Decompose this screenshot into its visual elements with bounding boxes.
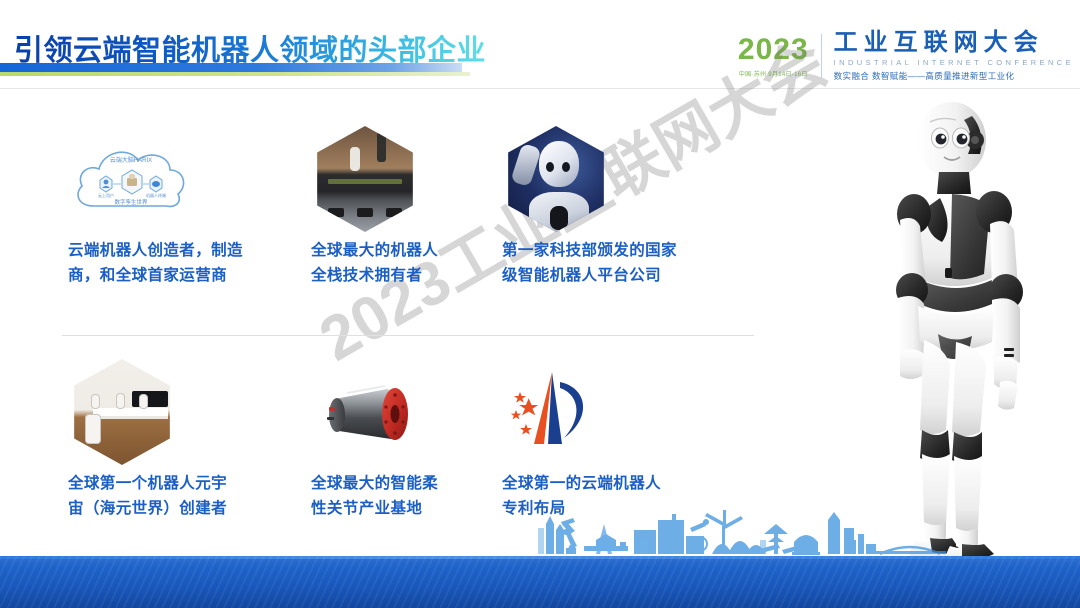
content-grid: 云端大脑HARIX 云上用户 机器人终端 <box>62 120 762 568</box>
humanoid-robot <box>91 394 100 409</box>
cell-caption: 全球最大的智能柔 性关节产业基地 <box>305 471 520 521</box>
content-row: 云端大脑HARIX 云上用户 机器人终端 <box>62 120 762 335</box>
cell-caption: 全球第一个机器人元宇 宙（海元世界）创建者 <box>62 471 277 521</box>
console-module <box>357 208 373 217</box>
cell-media: 云端大脑HARIX 云上用户 机器人终端 <box>62 120 277 238</box>
conference-logo: 2023 中国·苏州 9月14日-16日 工业互联网大会 INDUSTRIAL … <box>738 28 1074 84</box>
content-cell: 云端大脑HARIX 云上用户 机器人终端 <box>62 120 277 288</box>
logo-slogan: 数实融合 数智赋能——高质量推进新型工业化 <box>834 70 1074 82</box>
caption-line: 全球最大的智能柔 <box>311 471 520 496</box>
cell-caption: 云端机器人创造者，制造 商，和全球首家运营商 <box>62 238 277 288</box>
display-screen <box>132 391 168 407</box>
cell-media <box>496 353 711 471</box>
patent-emblem-logo <box>504 366 612 458</box>
svg-text:机器人终端: 机器人终端 <box>146 192 166 198</box>
caption-line: 性关节产业基地 <box>311 496 520 521</box>
robot-head <box>539 141 579 187</box>
cell-media <box>62 353 277 471</box>
humanoid-robot <box>139 394 148 409</box>
bottom-decoration-bar <box>0 556 1080 608</box>
caption-line: 第一家科技部颁发的国家 <box>502 238 711 263</box>
robot-chest-panel <box>550 206 568 230</box>
caption-line: 宙（海元世界）创建者 <box>68 496 277 521</box>
exhibit-table <box>93 408 168 416</box>
cell-caption: 全球最大的机器人 全栈技术拥有者 <box>305 238 520 288</box>
caption-line: 全球最大的机器人 <box>311 238 520 263</box>
cell-caption: 第一家科技部颁发的国家 级智能机器人平台公司 <box>496 238 711 288</box>
cell-media <box>305 353 520 471</box>
robot-arm <box>511 143 542 187</box>
title-accent-line <box>0 72 470 76</box>
content-cell: 全球第一的云端机器人 专利布局 <box>496 353 711 521</box>
cell-caption: 全球第一的云端机器人 专利布局 <box>496 471 711 521</box>
slide-header: 引领云端智能机器人领域的头部企业 2023 中国·苏州 9月14日-16日 工业… <box>0 0 1080 90</box>
logo-name-cn: 工业互联网大会 <box>834 30 1074 55</box>
robot-expo-hall-photo <box>70 359 174 465</box>
humanoid-service-robot-image <box>844 102 1064 572</box>
title-underbar <box>0 63 462 72</box>
caption-line: 级智能机器人平台公司 <box>502 263 711 288</box>
humanoid-robot <box>116 393 125 409</box>
caption-line: 云端机器人创造者，制造 <box>68 238 277 263</box>
logo-text-block: 工业互联网大会 INDUSTRIAL INTERNET CONFERENCE 数… <box>822 30 1074 81</box>
content-cell: 全球最大的智能柔 性关节产业基地 <box>305 353 520 521</box>
logo-name-en: INDUSTRIAL INTERNET CONFERENCE <box>834 58 1074 67</box>
cell-media <box>305 120 520 238</box>
console-module <box>328 208 344 217</box>
logo-year-block: 2023 中国·苏州 9月14日-16日 <box>738 35 821 78</box>
row-divider <box>62 335 754 336</box>
svg-text:数字孪生世界: 数字孪生世界 <box>114 198 148 206</box>
cloud-network-diagram-icon: 云端大脑HARIX 云上用户 机器人终端 <box>70 136 192 222</box>
svg-text:云端大脑HARIX: 云端大脑HARIX <box>110 156 152 164</box>
console-module <box>386 208 402 217</box>
console-bar <box>328 179 403 184</box>
svg-text:云上用户: 云上用户 <box>98 192 114 198</box>
header-divider <box>0 88 1080 89</box>
humanoid-robot <box>85 414 101 444</box>
content-cell: 全球第一个机器人元宇 宙（海元世界）创建者 <box>62 353 277 521</box>
content-cell: 全球最大的机器人 全栈技术拥有者 <box>305 120 520 288</box>
slide-root: 引领云端智能机器人领域的头部企业 2023 中国·苏州 9月14日-16日 工业… <box>0 0 1080 608</box>
caption-line: 专利布局 <box>502 496 711 521</box>
cell-media <box>496 120 711 238</box>
logo-year: 2023 <box>738 35 809 65</box>
robot-showroom-photo <box>313 126 417 232</box>
small-robot <box>350 147 360 171</box>
person-silhouette <box>377 132 386 162</box>
blue-humanoid-robot-photo <box>504 126 608 232</box>
bottom-bar-texture <box>0 556 1080 608</box>
caption-line: 商，和全球首家运营商 <box>68 263 277 288</box>
logo-year-subtitle: 中国·苏州 9月14日-16日 <box>739 69 808 78</box>
caption-line: 全球第一的云端机器人 <box>502 471 711 496</box>
content-row: 全球第一个机器人元宇 宙（海元世界）创建者 <box>62 353 762 568</box>
content-cell: 第一家科技部颁发的国家 级智能机器人平台公司 <box>496 120 711 288</box>
harmonic-joint-motor-photo <box>313 369 431 455</box>
caption-line: 全球第一个机器人元宇 <box>68 471 277 496</box>
robot-eye <box>546 162 554 172</box>
caption-line: 全栈技术拥有者 <box>311 263 520 288</box>
